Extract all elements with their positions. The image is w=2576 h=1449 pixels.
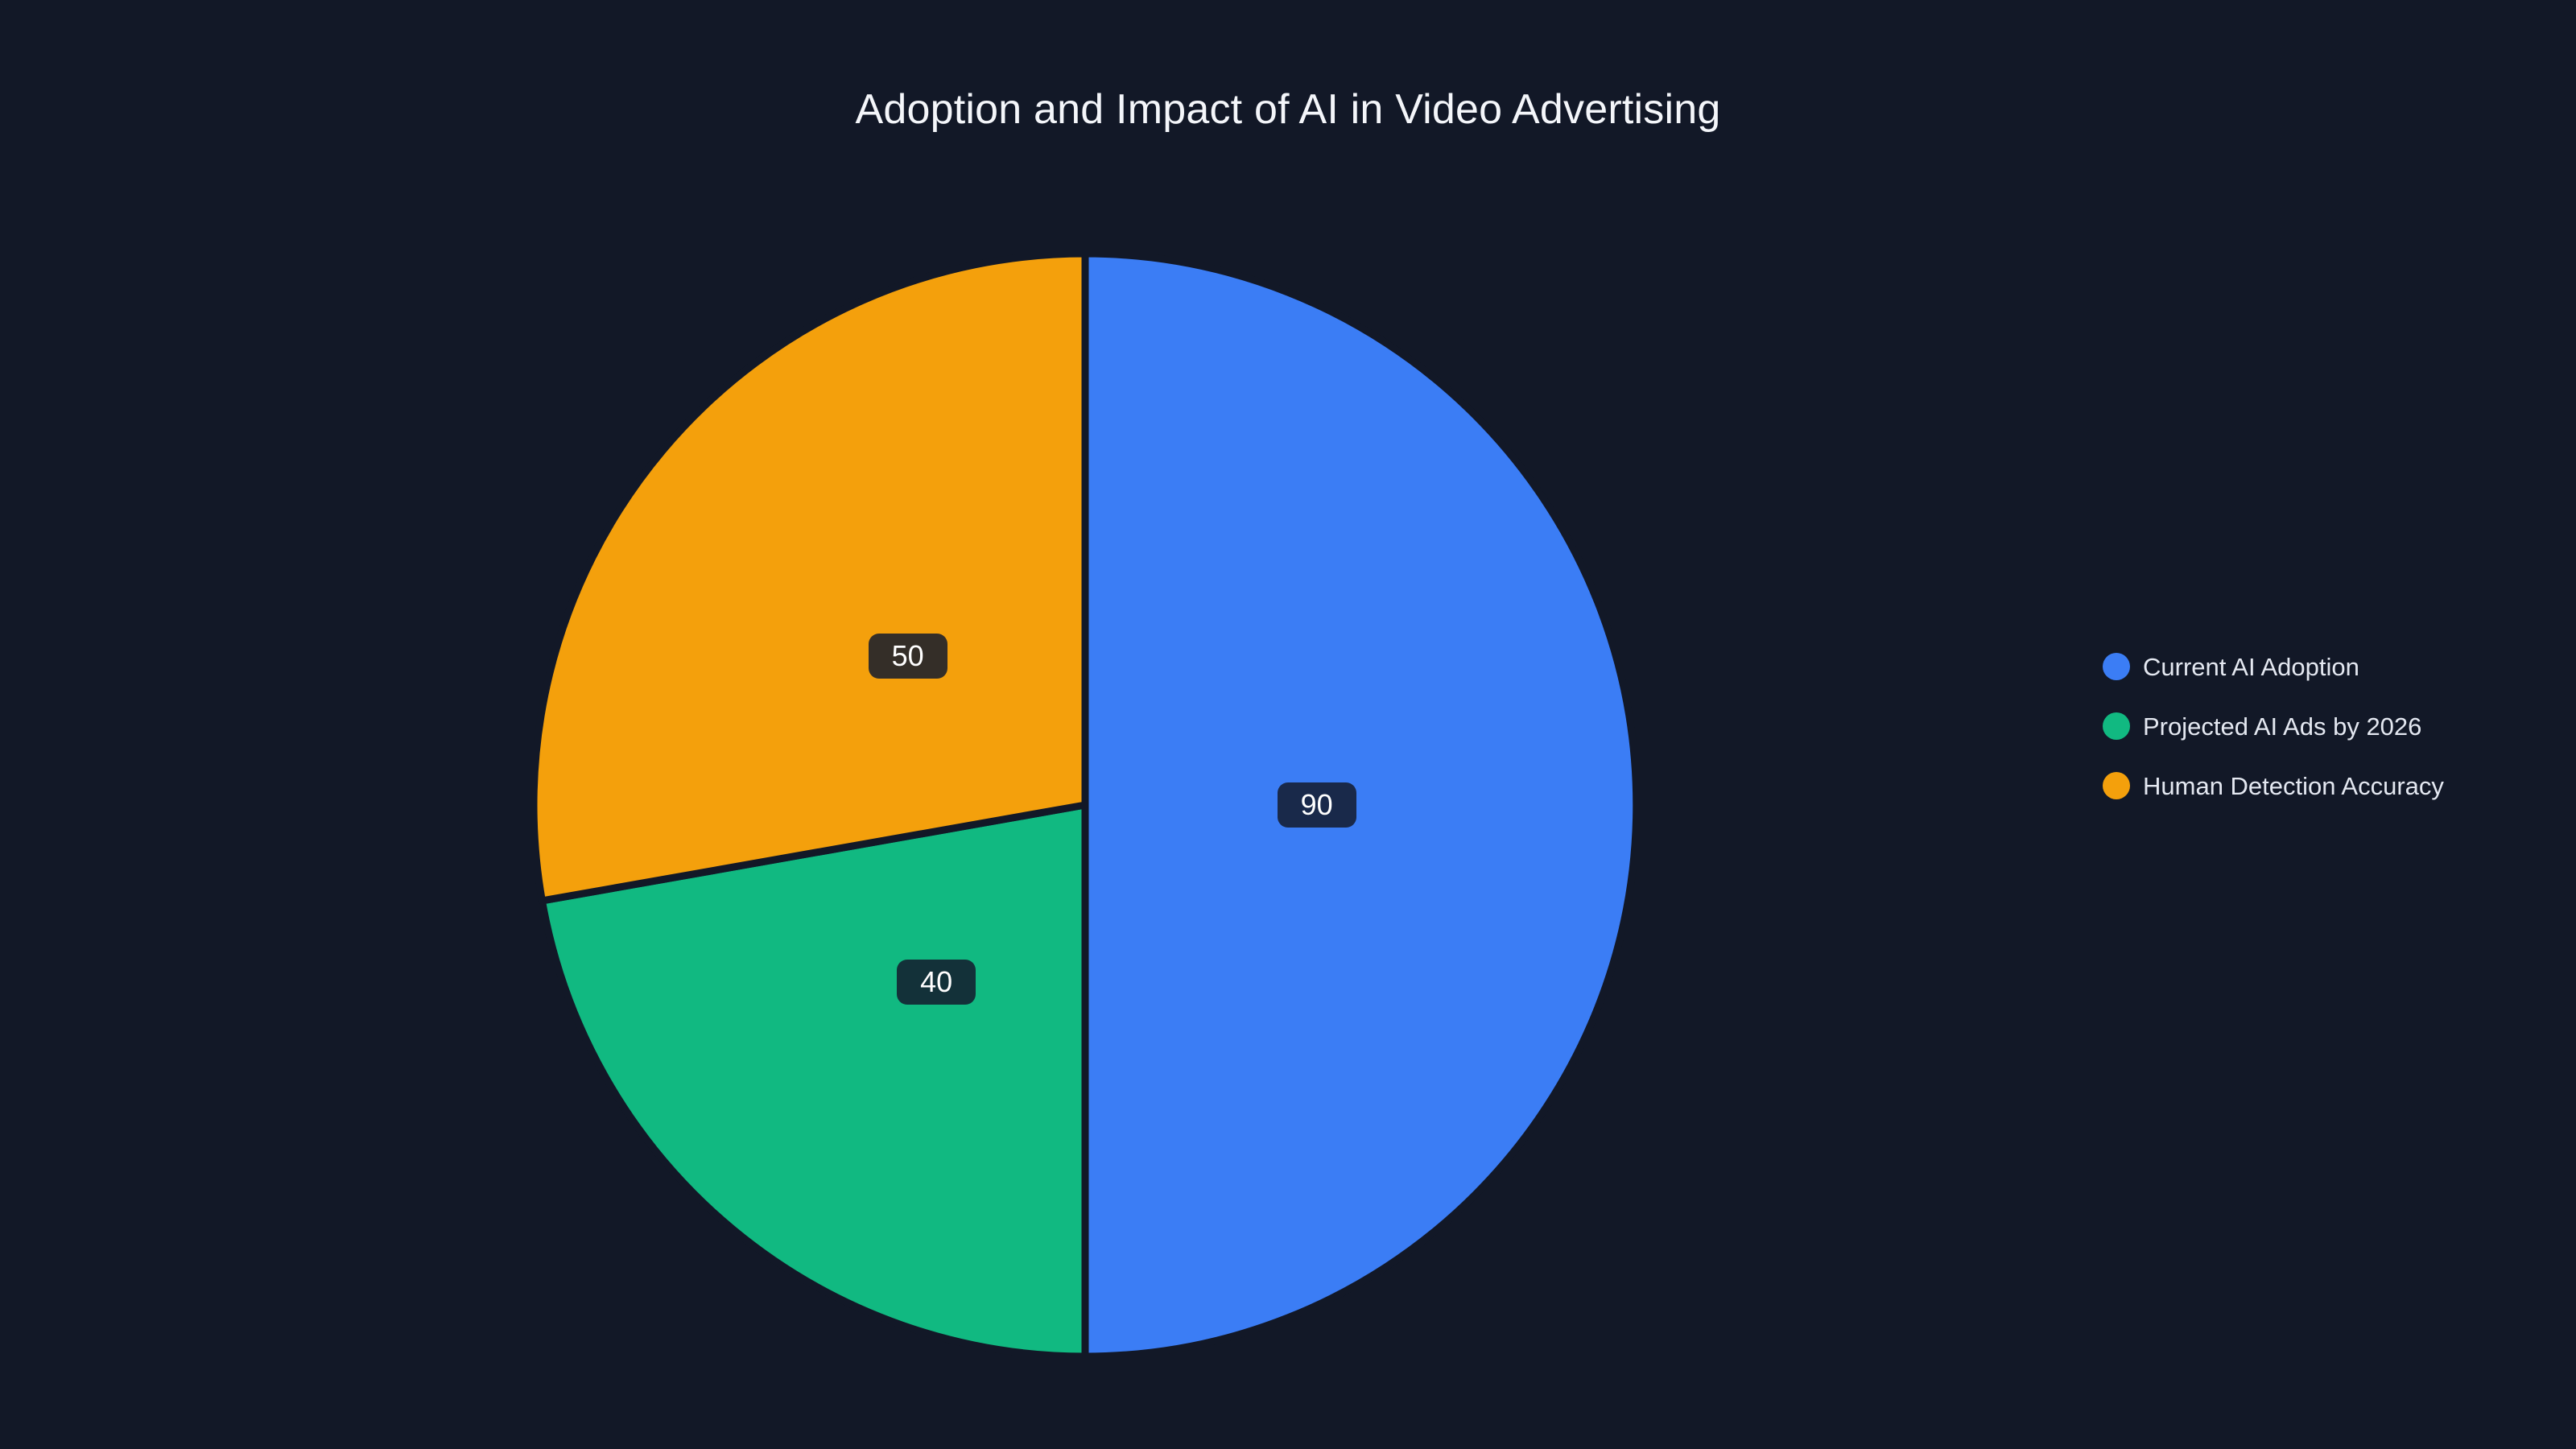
- legend-item-label: Current AI Adoption: [2143, 654, 2359, 679]
- legend-item-label: Projected AI Ads by 2026: [2143, 714, 2421, 739]
- pie-slice-value-label: 50: [869, 634, 947, 679]
- pie-slice-value-label: 90: [1278, 782, 1356, 828]
- legend-color-swatch-icon: [2103, 653, 2130, 680]
- pie-svg: [534, 254, 1637, 1356]
- pie-slice-group: [534, 254, 1637, 1356]
- legend-item-label: Human Detection Accuracy: [2143, 774, 2444, 799]
- legend-item[interactable]: Projected AI Ads by 2026: [2103, 712, 2444, 741]
- pie-chart-figure: Adoption and Impact of AI in Video Adver…: [0, 0, 2576, 1449]
- pie-plot-area: 904050: [534, 254, 1637, 1356]
- pie-slice[interactable]: [534, 254, 1085, 901]
- legend-item[interactable]: Human Detection Accuracy: [2103, 771, 2444, 800]
- chart-legend: Current AI AdoptionProjected AI Ads by 2…: [2103, 652, 2444, 800]
- pie-slice-value-label: 40: [897, 960, 976, 1005]
- legend-color-swatch-icon: [2103, 772, 2130, 799]
- pie-slice[interactable]: [1085, 254, 1637, 1356]
- legend-item[interactable]: Current AI Adoption: [2103, 652, 2444, 681]
- legend-color-swatch-icon: [2103, 712, 2130, 740]
- chart-title: Adoption and Impact of AI in Video Adver…: [0, 87, 2576, 133]
